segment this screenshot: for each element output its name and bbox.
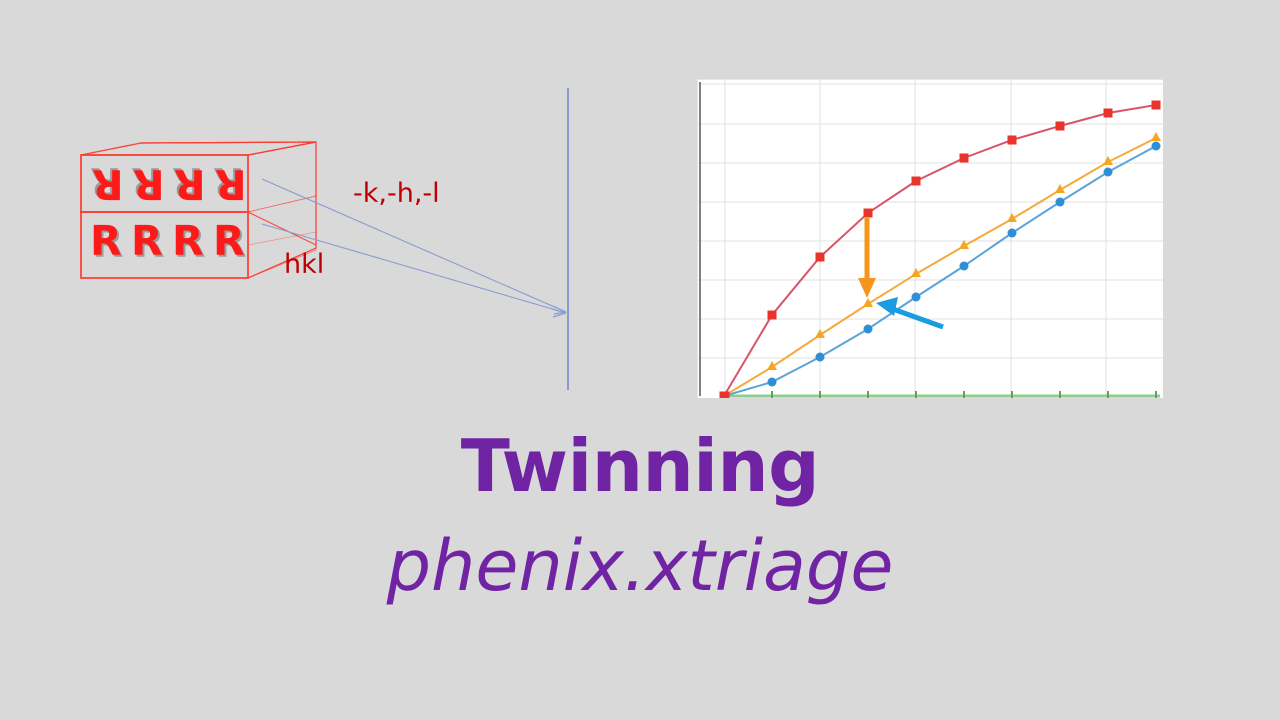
letter-r-flipped-1: R xyxy=(92,163,124,204)
page-title: Twinning xyxy=(0,430,1280,503)
letter-r-flipped-3: R xyxy=(174,163,206,204)
label-hkl: hkl xyxy=(284,249,324,280)
letter-r-flipped-2: R xyxy=(133,163,165,204)
letter-r-3: R xyxy=(172,221,204,262)
letter-r-4: R xyxy=(213,221,245,262)
cumulative-intensity-chart xyxy=(697,79,1162,397)
page-subtitle: phenix.xtriage xyxy=(0,530,1280,604)
slide-root: R R R R R R R R -k,-h,-l hkl xyxy=(0,0,1280,720)
letter-r-flipped-4: R xyxy=(215,163,247,204)
letter-r-1: R xyxy=(90,221,122,262)
chart-plot xyxy=(698,80,1163,398)
letter-r-2: R xyxy=(131,221,163,262)
label-minus-k-minus-h-minus-l: -k,-h,-l xyxy=(353,178,440,209)
